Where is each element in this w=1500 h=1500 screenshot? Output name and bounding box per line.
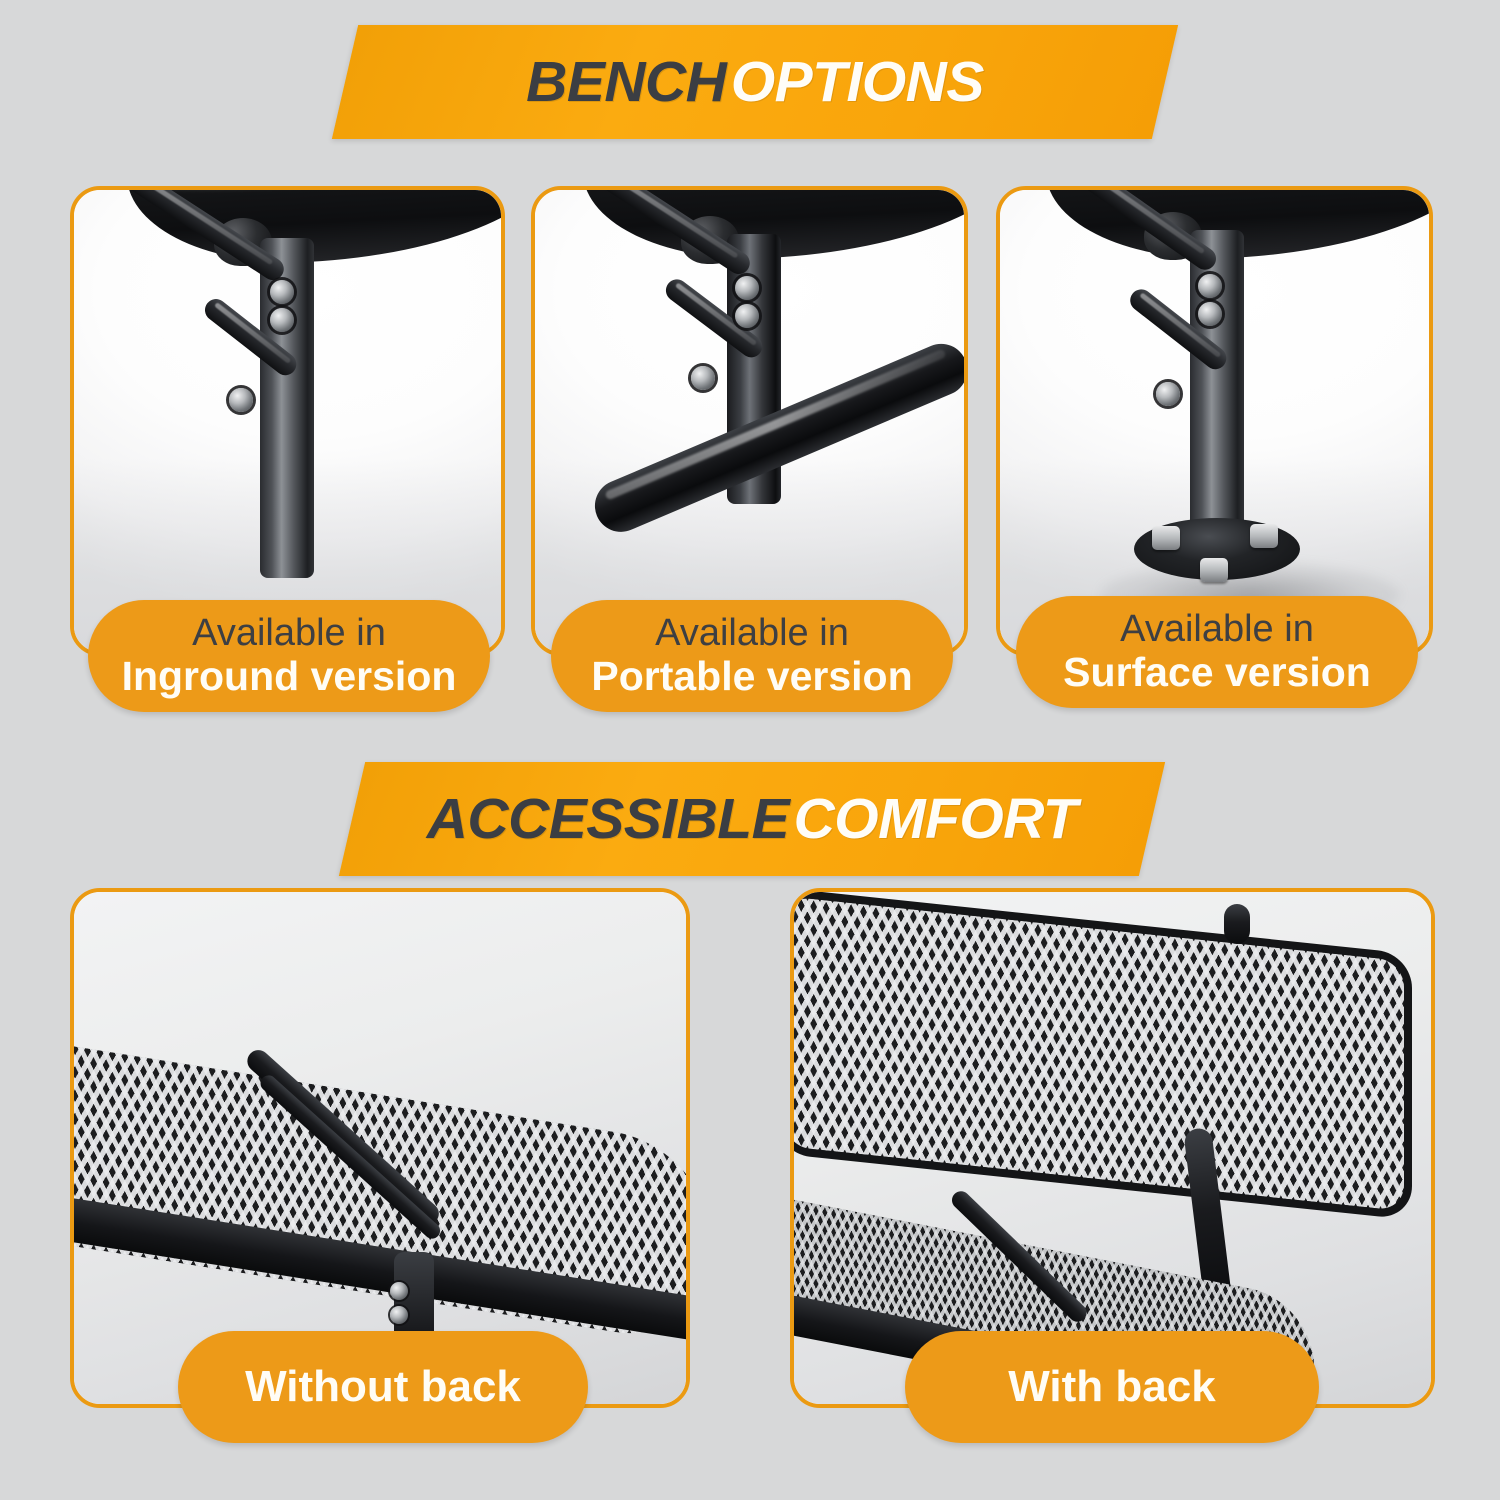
section-banner-bench-options: BENCH OPTIONS [332, 25, 1178, 139]
caption-line-2: Surface version [1063, 650, 1371, 694]
option-card-portable[interactable] [531, 186, 968, 656]
banner-text-wrap: ACCESSIBLE COMFORT [352, 762, 1152, 876]
option-card-surface[interactable] [996, 186, 1433, 656]
anchor-bolt-left [1152, 526, 1180, 550]
bolt-brace [691, 366, 715, 390]
caption-text: Without back [245, 1363, 521, 1411]
banner-word-light: OPTIONS [731, 49, 984, 115]
photo-bench-leg-portable [535, 190, 964, 652]
caption-pill-portable: Available in Portable version [551, 600, 953, 712]
caption-line-1: Available in [1120, 609, 1314, 650]
caption-line-2: Portable version [591, 654, 912, 698]
bolt-mid [735, 304, 759, 328]
bolt-lower [390, 1306, 408, 1324]
caption-pill-surface: Available in Surface version [1016, 596, 1418, 708]
bolt-upper [390, 1282, 408, 1300]
banner-word-dark: ACCESSIBLE [427, 786, 789, 852]
banner-text-wrap: BENCH OPTIONS [345, 25, 1165, 139]
banner-word-light: COMFORT [794, 786, 1078, 852]
caption-line-1: Available in [655, 613, 849, 654]
backrest-top-bracket [1224, 904, 1250, 944]
comfort-card-without-back[interactable] [70, 888, 690, 1408]
caption-pill-without-back: Without back [178, 1331, 588, 1443]
anchor-bolt-front [1200, 558, 1228, 582]
bolt-upper [270, 280, 294, 304]
caption-line-2: Inground version [122, 654, 457, 698]
photo-bench-leg-surface-mount [1000, 190, 1429, 652]
photo-bench-with-backrest [794, 892, 1431, 1404]
photo-bench-leg-inground [74, 190, 501, 652]
caption-line-1: Available in [192, 613, 386, 654]
section-banner-accessible-comfort: ACCESSIBLE COMFORT [339, 762, 1165, 876]
bolt-brace [229, 388, 253, 412]
banner-word-dark: BENCH [526, 49, 726, 115]
bolt-upper [1198, 274, 1222, 298]
bolt-brace [1156, 382, 1180, 406]
bolt-mid [270, 308, 294, 332]
leg-post [1190, 230, 1244, 530]
photo-bench-without-backrest [74, 892, 686, 1404]
caption-pill-with-back: With back [905, 1331, 1319, 1443]
anchor-bolt-right [1250, 524, 1278, 548]
caption-pill-inground: Available in Inground version [88, 600, 490, 712]
option-card-inground[interactable] [70, 186, 505, 656]
bolt-mid [1198, 302, 1222, 326]
comfort-card-with-back[interactable] [790, 888, 1435, 1408]
bolt-upper [735, 276, 759, 300]
caption-text: With back [1008, 1363, 1215, 1411]
